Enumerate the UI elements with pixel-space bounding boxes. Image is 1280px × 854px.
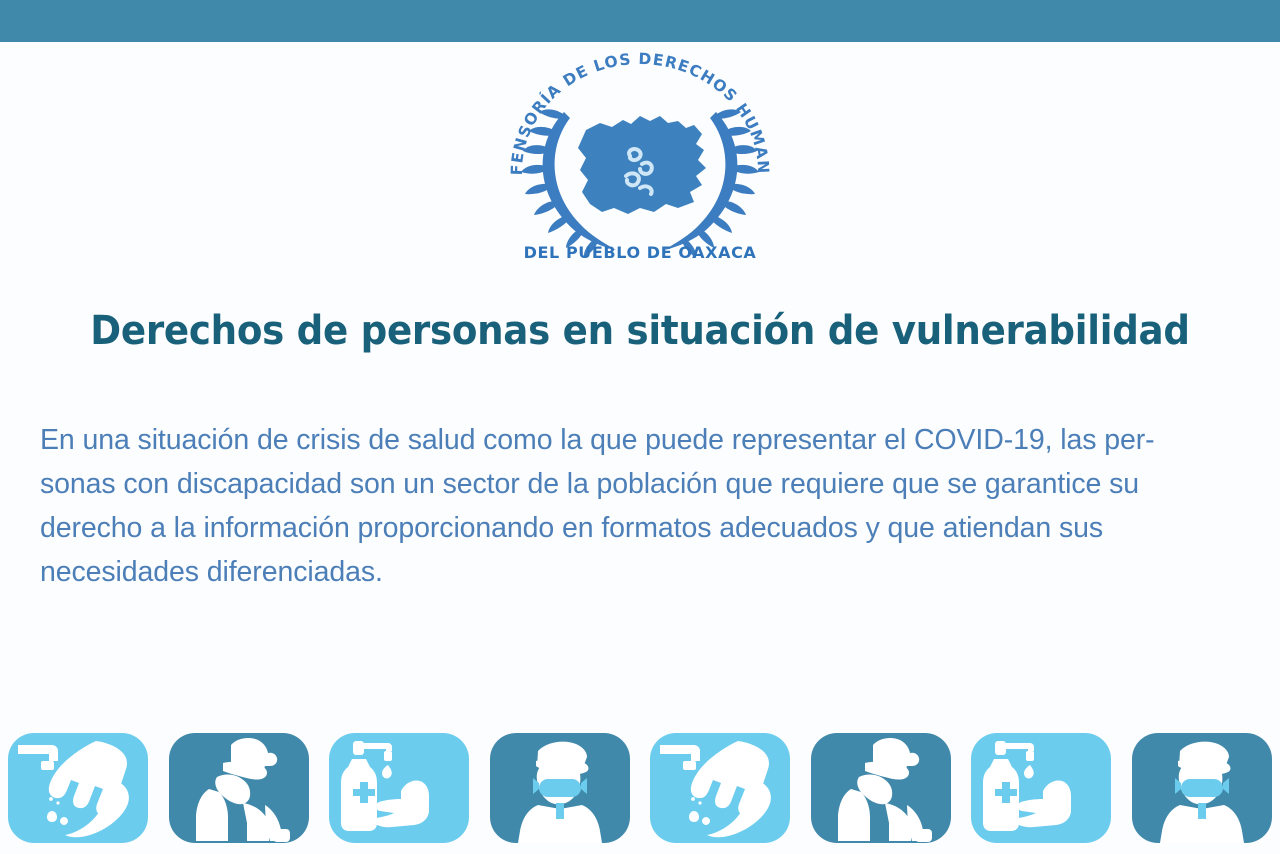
body-line-3: derecho a la información proporcionando … [40,506,1243,550]
prevention-badge-wash-hands [8,733,148,843]
wash-hands-icon [8,733,148,843]
defensoria-oaxaca-logo: DEFENSORÍA DE LOS DERECHOS HUMANOS [490,52,790,267]
body-line-2: sonas con discapacidad son un sector de … [40,462,1243,506]
prevention-badge-hand-sanitizer [971,733,1111,843]
prevention-badge-cough-into-elbow [169,733,309,843]
prevention-badge-person-with-mask [1132,733,1272,843]
body-line-4: necesidades diferenciadas. [40,550,1243,594]
cough-into-elbow-icon [811,733,951,843]
prevention-badge-wash-hands [650,733,790,843]
body-paragraph: En una situación de crisis de salud como… [40,418,1243,594]
prevention-badge-person-with-mask [490,733,630,843]
logo-block: DEFENSORÍA DE LOS DERECHOS HUMANOS [0,52,1280,267]
hand-sanitizer-icon [329,733,469,843]
person-with-mask-icon [490,733,630,843]
oaxaca-map-icon [578,116,706,228]
person-with-mask-icon [1132,733,1272,843]
logo-bottom-text: DEL PUEBLO DE OAXACA [524,243,757,262]
cough-into-elbow-icon [169,733,309,843]
prevention-badge-cough-into-elbow [811,733,951,843]
prevention-badge-hand-sanitizer [329,733,469,843]
header-bar [0,0,1280,42]
prevention-icon-strip [0,733,1280,843]
page-title: Derechos de personas en situación de vul… [45,308,1235,354]
hand-sanitizer-icon [971,733,1111,843]
body-line-1: En una situación de crisis de salud como… [40,418,1243,462]
wash-hands-icon [650,733,790,843]
